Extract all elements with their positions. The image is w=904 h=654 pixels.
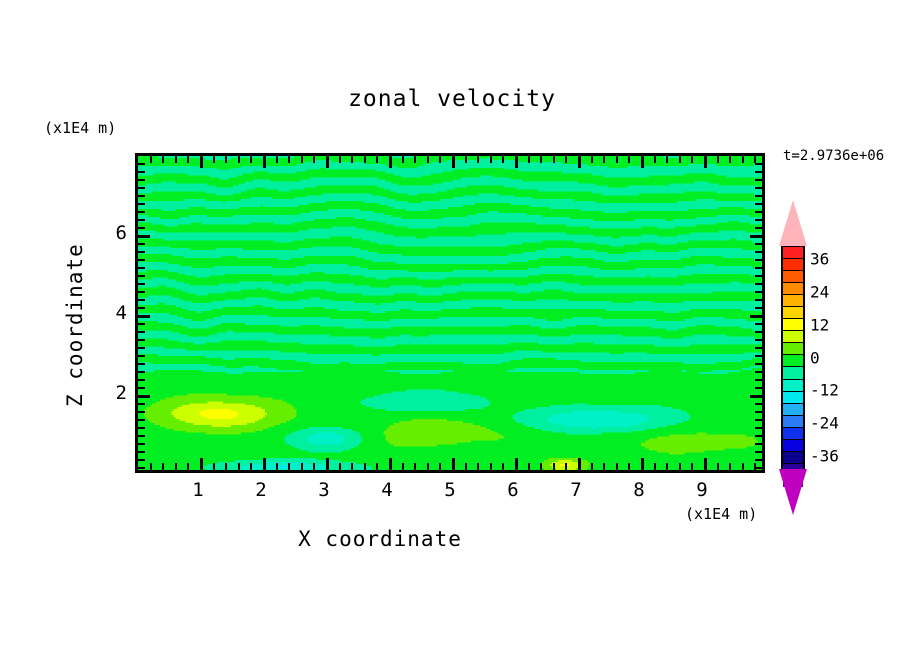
x-tick-label: 5 — [444, 479, 455, 501]
colorbar-swatch — [783, 282, 803, 294]
x-tick-top — [452, 156, 455, 168]
x-tick — [414, 463, 416, 470]
x-tick — [565, 463, 567, 470]
x-tick-label: 6 — [507, 479, 518, 501]
x-tick — [628, 463, 630, 470]
y-tick-right — [755, 227, 762, 229]
y-tick-right — [755, 379, 762, 381]
y-tick — [138, 267, 145, 269]
colorbar-swatch — [783, 427, 803, 439]
y-tick-right — [755, 427, 762, 429]
colorbar-under-arrow — [779, 469, 807, 515]
y-axis-title: Z coordinate — [60, 225, 90, 425]
y-tick — [138, 379, 145, 381]
x-axis-title: X coordinate — [0, 527, 760, 551]
y-tick-right — [755, 283, 762, 285]
x-tick — [603, 463, 605, 470]
x-tick — [704, 458, 707, 470]
y-tick-right — [755, 339, 762, 341]
y-tick-right — [755, 355, 762, 357]
y-tick-right — [755, 195, 762, 197]
y-tick — [138, 291, 145, 293]
x-tick-top — [427, 156, 429, 163]
x-tick — [225, 463, 227, 470]
y-tick-right — [755, 211, 762, 213]
y-tick-right — [755, 299, 762, 301]
y-tick — [138, 403, 145, 405]
x-tick — [515, 458, 518, 470]
y-tick-right — [755, 323, 762, 325]
page-title: zonal velocity — [0, 86, 904, 112]
x-tick-top — [200, 156, 203, 168]
x-tick-top — [591, 156, 593, 163]
colorbar-over-arrow — [779, 200, 807, 246]
x-tick — [313, 463, 315, 470]
y-tick — [138, 179, 145, 181]
x-tick — [364, 463, 366, 470]
y-tick — [138, 323, 145, 325]
x-tick — [187, 463, 189, 470]
x-tick-top — [691, 156, 693, 163]
x-tick — [200, 458, 203, 470]
y-tick-label: 6 — [107, 222, 127, 244]
x-tick-top — [225, 156, 227, 163]
x-tick-label: 2 — [255, 479, 266, 501]
x-tick-top — [754, 156, 756, 163]
x-tick-top — [528, 156, 530, 163]
y-tick — [138, 355, 145, 357]
colorbar-swatch — [783, 270, 803, 282]
y-tick-right — [755, 259, 762, 261]
x-tick-top — [742, 156, 744, 163]
y-tick — [138, 339, 145, 341]
x-tick-top — [339, 156, 341, 163]
colorbar-tick-label: 0 — [810, 348, 820, 367]
x-tick-label: 8 — [633, 479, 644, 501]
y-tick-right — [755, 179, 762, 181]
y-tick-right — [755, 443, 762, 445]
x-tick — [540, 463, 542, 470]
x-tick — [641, 458, 644, 470]
x-tick — [490, 463, 492, 470]
y-tick-right — [755, 187, 762, 189]
y-tick — [138, 395, 150, 398]
contour-field — [138, 156, 762, 470]
y-tick — [138, 243, 145, 245]
y-tick — [138, 347, 145, 349]
x-tick-top — [389, 156, 392, 168]
colorbar-tick-label: 36 — [810, 250, 829, 269]
y-tick — [138, 451, 145, 453]
x-tick — [402, 463, 404, 470]
x-tick — [162, 463, 164, 470]
y-tick — [138, 235, 150, 238]
colorbar-swatch — [783, 439, 803, 451]
colorbar[interactable] — [781, 245, 805, 470]
x-tick-top — [213, 156, 215, 163]
y-tick — [138, 259, 145, 261]
x-tick — [150, 463, 152, 470]
y-tick-right — [755, 171, 762, 173]
y-tick-right — [755, 419, 762, 421]
colorbar-tick-label: -36 — [810, 447, 839, 466]
x-tick-top — [439, 156, 441, 163]
colorbar-swatch — [783, 366, 803, 378]
x-tick — [276, 463, 278, 470]
colorbar-tick-label: -24 — [810, 414, 839, 433]
y-tick-right — [755, 267, 762, 269]
y-axis-unit-label: (x1E4 m) — [44, 119, 116, 137]
y-tick — [138, 203, 145, 205]
x-tick — [288, 463, 290, 470]
timestamp-annotation: t=2.9736e+06 — [783, 148, 884, 164]
colorbar-swatch — [783, 415, 803, 427]
x-tick — [717, 463, 719, 470]
x-tick — [578, 458, 581, 470]
x-tick — [213, 463, 215, 470]
colorbar-tick-label: 24 — [810, 282, 829, 301]
y-tick-right — [755, 467, 762, 469]
colorbar-swatch — [783, 318, 803, 330]
x-tick-label: 7 — [570, 479, 581, 501]
y-tick — [138, 419, 145, 421]
y-tick-right — [755, 435, 762, 437]
x-tick-top — [641, 156, 644, 168]
x-tick-top — [351, 156, 353, 163]
x-tick — [679, 463, 681, 470]
y-tick-right — [755, 251, 762, 253]
x-tick — [339, 463, 341, 470]
x-tick — [477, 463, 479, 470]
colorbar-swatch — [783, 451, 803, 463]
x-tick-top — [288, 156, 290, 163]
x-tick-top — [477, 156, 479, 163]
y-tick-right — [755, 371, 762, 373]
y-tick — [138, 219, 145, 221]
y-tick — [138, 371, 145, 373]
x-tick-top — [729, 156, 731, 163]
x-tick-top — [276, 156, 278, 163]
x-tick-top — [263, 156, 266, 168]
x-tick-top — [376, 156, 378, 163]
colorbar-swatch — [783, 342, 803, 354]
y-tick-label: 4 — [107, 302, 127, 324]
colorbar-swatch — [783, 403, 803, 415]
x-tick — [326, 458, 329, 470]
x-tick — [389, 458, 392, 470]
x-tick — [301, 463, 303, 470]
x-tick-top — [515, 156, 518, 168]
x-tick-top — [238, 156, 240, 163]
y-tick — [138, 283, 145, 285]
x-tick — [465, 463, 467, 470]
x-tick — [666, 463, 668, 470]
y-tick — [138, 171, 145, 173]
colorbar-swatch — [783, 247, 803, 258]
x-tick-top — [162, 156, 164, 163]
x-tick-top — [704, 156, 707, 168]
colorbar-swatch — [783, 258, 803, 270]
x-tick-label: 1 — [192, 479, 203, 501]
y-tick — [138, 363, 145, 365]
y-tick — [138, 307, 145, 309]
y-tick-right — [750, 235, 762, 238]
x-tick-top — [578, 156, 581, 168]
x-tick-top — [540, 156, 542, 163]
x-tick-top — [175, 156, 177, 163]
contour-plot-panel[interactable] — [135, 153, 765, 473]
x-tick-top — [717, 156, 719, 163]
y-tick-right — [755, 411, 762, 413]
x-tick — [452, 458, 455, 470]
y-tick — [138, 435, 145, 437]
x-tick-top — [628, 156, 630, 163]
y-tick-right — [755, 387, 762, 389]
x-axis-unit-label: (x1E4 m) — [685, 505, 757, 523]
x-tick-top — [654, 156, 656, 163]
x-tick-top — [465, 156, 467, 163]
x-tick — [591, 463, 593, 470]
y-tick — [138, 195, 145, 197]
x-tick — [351, 463, 353, 470]
y-tick — [138, 315, 150, 318]
x-tick — [691, 463, 693, 470]
colorbar-tick-label: 12 — [810, 315, 829, 334]
y-tick-right — [755, 243, 762, 245]
x-tick-top — [187, 156, 189, 163]
y-tick-right — [755, 459, 762, 461]
x-tick-top — [553, 156, 555, 163]
y-tick-right — [755, 163, 762, 165]
y-tick-label: 2 — [107, 382, 127, 404]
x-tick-top — [666, 156, 668, 163]
x-tick — [427, 463, 429, 470]
x-tick — [553, 463, 555, 470]
y-tick — [138, 211, 145, 213]
colorbar-swatch — [783, 294, 803, 306]
colorbar-swatch — [783, 330, 803, 342]
y-tick-right — [755, 403, 762, 405]
x-tick — [528, 463, 530, 470]
x-tick — [439, 463, 441, 470]
x-tick — [616, 463, 618, 470]
x-tick-top — [250, 156, 252, 163]
y-tick-right — [755, 291, 762, 293]
y-tick — [138, 275, 145, 277]
y-tick — [138, 467, 145, 469]
x-tick — [376, 463, 378, 470]
y-tick — [138, 163, 145, 165]
x-tick-top — [502, 156, 504, 163]
y-tick — [138, 443, 145, 445]
x-tick — [175, 463, 177, 470]
y-tick — [138, 427, 145, 429]
x-tick — [502, 463, 504, 470]
y-tick — [138, 387, 145, 389]
y-tick — [138, 331, 145, 333]
x-tick-top — [313, 156, 315, 163]
y-tick-right — [755, 219, 762, 221]
x-tick — [654, 463, 656, 470]
y-tick — [138, 411, 145, 413]
y-tick — [138, 459, 145, 461]
y-tick-right — [755, 275, 762, 277]
x-tick-top — [414, 156, 416, 163]
colorbar-swatch — [783, 354, 803, 366]
y-tick — [138, 299, 145, 301]
x-tick-top — [679, 156, 681, 163]
x-tick-top — [402, 156, 404, 163]
x-tick-top — [326, 156, 329, 168]
x-tick-label: 4 — [381, 479, 392, 501]
y-tick-right — [755, 203, 762, 205]
x-tick — [250, 463, 252, 470]
x-tick — [729, 463, 731, 470]
x-tick-label: 3 — [318, 479, 329, 501]
x-tick-label: 9 — [696, 479, 707, 501]
x-tick-top — [603, 156, 605, 163]
contour-canvas — [138, 156, 762, 470]
y-tick — [138, 251, 145, 253]
colorbar-swatch — [783, 391, 803, 403]
colorbar-swatch — [783, 379, 803, 391]
y-tick — [138, 187, 145, 189]
y-tick — [138, 227, 145, 229]
x-tick-top — [565, 156, 567, 163]
y-tick-right — [755, 331, 762, 333]
y-tick-right — [755, 451, 762, 453]
y-tick-right — [750, 395, 762, 398]
y-tick-right — [755, 363, 762, 365]
x-tick-top — [364, 156, 366, 163]
x-tick-top — [616, 156, 618, 163]
y-tick-right — [755, 347, 762, 349]
x-tick-top — [150, 156, 152, 163]
y-tick-right — [755, 307, 762, 309]
x-tick-top — [490, 156, 492, 163]
x-tick — [742, 463, 744, 470]
y-tick-right — [750, 315, 762, 318]
colorbar-swatch — [783, 306, 803, 318]
x-tick-top — [301, 156, 303, 163]
colorbar-tick-label: -12 — [810, 381, 839, 400]
x-tick — [263, 458, 266, 470]
x-tick — [238, 463, 240, 470]
